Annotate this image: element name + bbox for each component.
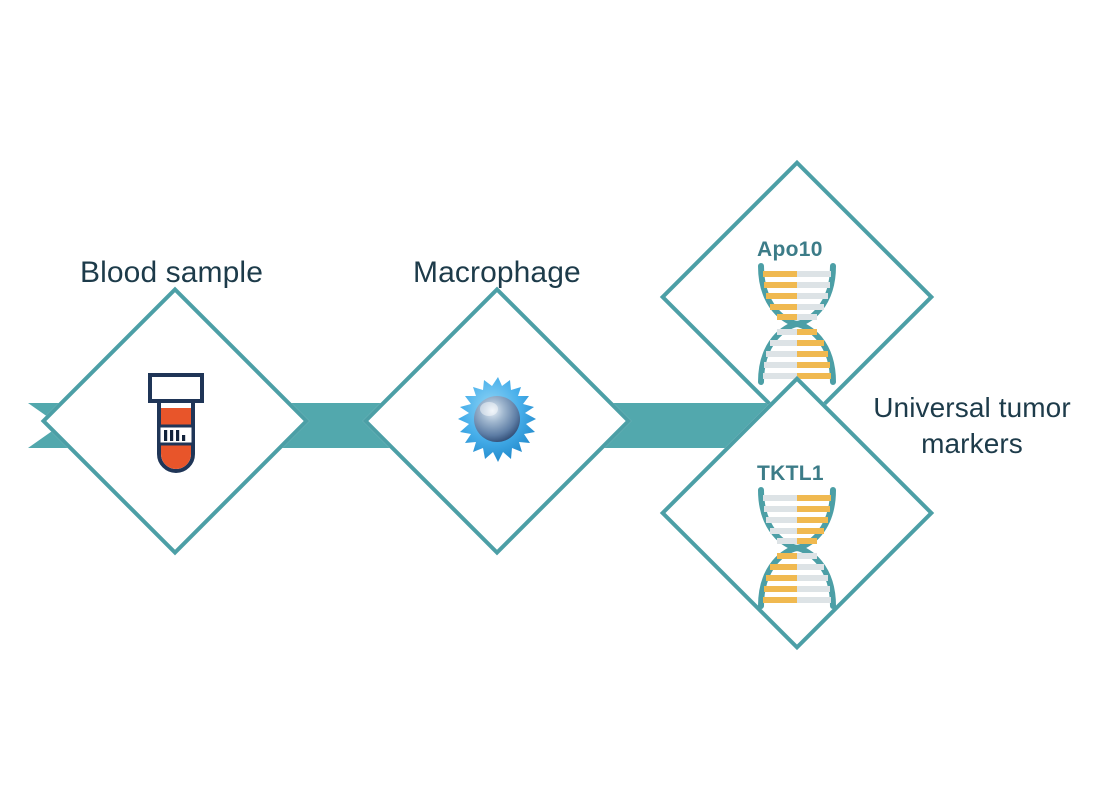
blood-collection-tube-icon — [145, 372, 207, 477]
label-universal-tumor-markers: Universal tumor markers — [852, 390, 1092, 463]
dna-helix-icon — [749, 486, 845, 610]
macrophage-cell-icon — [452, 375, 544, 467]
diagram-canvas: Apo10 — [0, 0, 1100, 803]
dna-helix-icon — [749, 262, 845, 386]
label-macrophage: Macrophage — [413, 256, 581, 290]
gene-label-apo10: Apo10 — [757, 238, 823, 262]
gene-label-tktl1: TKTL1 — [757, 462, 824, 486]
label-blood-sample: Blood sample — [80, 256, 263, 290]
